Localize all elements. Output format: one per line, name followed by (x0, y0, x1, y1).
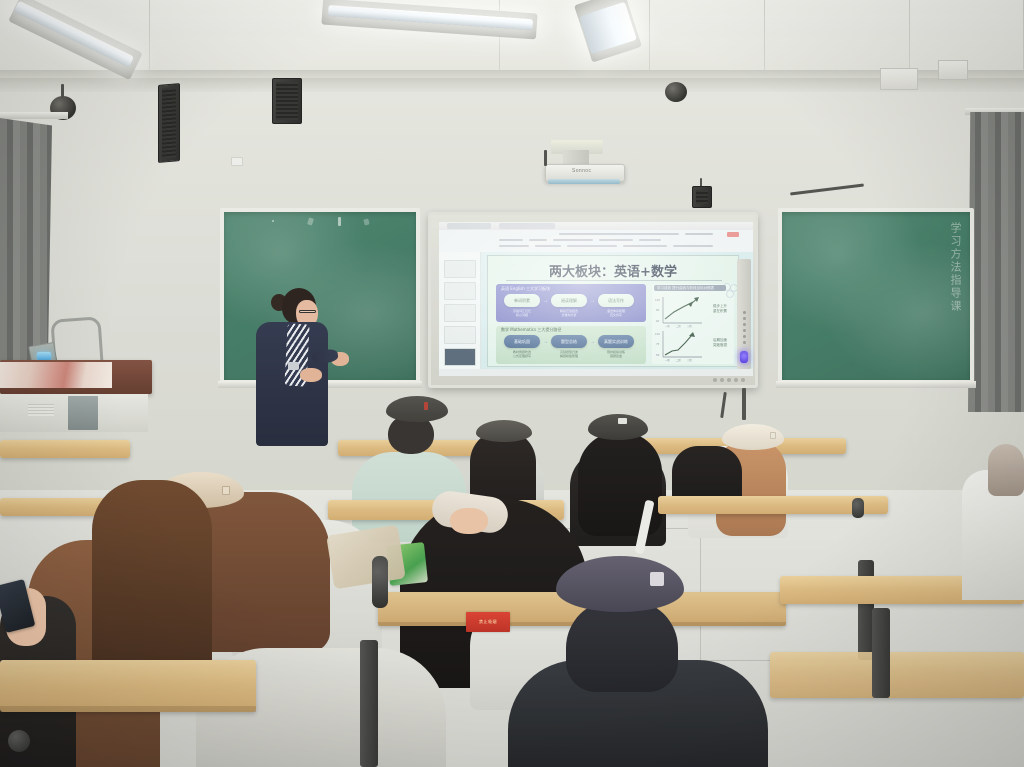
backpack-on-desk[interactable] (326, 525, 406, 590)
charts-panel-header: 学习成效 提分曲线与阶段目标对照表 (654, 285, 726, 291)
english-connector-2: → (590, 299, 595, 304)
smartboard-power-cable (742, 388, 746, 420)
camera-mount (61, 84, 64, 98)
bench-end-cap (852, 498, 864, 518)
right-green-chalkboard: 学习方法指导课 (778, 208, 974, 384)
math-connector-1: → (543, 340, 548, 345)
math-connector-2: → (590, 340, 595, 345)
monitor-power-indicator (37, 352, 51, 360)
math-node-3: 真题实战训练 (598, 335, 634, 348)
wall-switch-plate[interactable] (231, 157, 243, 166)
slide-thumbnail[interactable] (444, 348, 476, 366)
cap-buckle (650, 572, 664, 586)
bench-leg-right (872, 608, 890, 698)
bezel-button-source[interactable] (743, 317, 746, 320)
ceiling-panel (650, 0, 765, 78)
slide-title: 两大板块：英语+数学 (488, 261, 738, 280)
wall-speaker-right (272, 78, 302, 124)
teacher-wristwatch (288, 362, 299, 370)
student-long-hair (92, 480, 212, 680)
cap-buckle (770, 432, 776, 439)
svg-text:二阶: 二阶 (676, 358, 681, 362)
ppt-status-bar (439, 369, 753, 376)
lectern-cabinet-door[interactable] (68, 396, 98, 430)
english-node-3: 语法写作 (598, 294, 634, 307)
math-caption-1: 教材例题吃透 公式定理默写 (502, 350, 542, 358)
projected-screen[interactable]: 两大板块：英语+数学 英语 English 三大学习板块 单词积累 → 阅读理解… (439, 222, 753, 376)
math-node-1: 基础巩固 (504, 335, 540, 348)
ppt-tab[interactable] (447, 223, 491, 229)
bezel-button-volume-down[interactable] (743, 323, 746, 326)
slide-canvas[interactable]: 两大板块：英语+数学 英语 English 三大学习板块 单词积累 → 阅读理解… (487, 255, 739, 367)
svg-text:100: 100 (655, 332, 660, 336)
svg-text:60: 60 (656, 319, 660, 323)
student-hair (988, 444, 1024, 496)
bench-leg-front (360, 640, 378, 767)
svg-text:50: 50 (656, 353, 660, 357)
svg-text:一阶: 一阶 (665, 358, 670, 362)
slide-thumbnail[interactable] (444, 304, 476, 322)
math-section-label: 数学 Mathematics 三大提分路径 (501, 327, 561, 333)
wall-speaker-left (158, 83, 180, 163)
student-head (566, 600, 678, 692)
svg-text:75: 75 (656, 342, 660, 346)
english-chart-annotation: 稳步上升 重在积累 (706, 304, 734, 314)
bezel-button-power[interactable] (743, 311, 746, 314)
lectern-front-panel (0, 362, 112, 388)
bottom-button-1[interactable] (713, 378, 717, 382)
smartboard-bottom-buttons[interactable] (713, 378, 745, 382)
slide-thumbnail[interactable] (444, 326, 476, 344)
svg-text:100: 100 (655, 298, 660, 302)
projector-lens (548, 179, 620, 184)
english-section-label: 英语 English 三大学习板块 (501, 286, 550, 292)
bottom-button-5[interactable] (741, 378, 745, 382)
bench-row-a[interactable] (0, 440, 130, 458)
math-node-2: 题型总结 (551, 335, 587, 348)
wall-mounted-box (880, 68, 918, 90)
math-chart-annotation: 后期加速 突破瓶颈 (706, 338, 734, 348)
window-curtain-left[interactable] (0, 118, 52, 368)
ppt-slide-thumbnail-pane[interactable] (439, 252, 481, 369)
svg-text:80: 80 (656, 308, 660, 312)
cap-buckle (222, 486, 230, 495)
teacher-resting-hand (300, 368, 322, 382)
bezel-button-home[interactable] (743, 341, 746, 344)
english-connector-1: → (543, 299, 548, 304)
charts-panel-header-text: 学习成效 提分曲线与阶段目标对照表 (657, 285, 714, 291)
math-caption-3: 限时模拟训练 错题复盘 (596, 350, 636, 358)
cap-logo (618, 418, 627, 424)
bottom-button-2[interactable] (720, 378, 724, 382)
english-caption-1: 高频词汇记忆 核心词根 (502, 309, 542, 317)
bench-bolt (8, 730, 30, 752)
bezel-button-menu[interactable] (743, 335, 746, 338)
cap-logo (424, 402, 428, 410)
math-caption-2: 高频题型归类 解题模板整理 (549, 350, 589, 358)
student-cap (476, 420, 532, 442)
projector-cable (544, 150, 547, 166)
curtain-rail-left (0, 112, 68, 119)
power-status-led (740, 351, 748, 363)
teacher-glasses (299, 310, 316, 313)
chalk-tray-right (776, 381, 976, 388)
wall-soffit (0, 78, 1024, 92)
desk-warning-sticker: 禁止吸烟 (466, 612, 510, 632)
bench-end-cap (372, 556, 388, 608)
sticker-text: 禁止吸烟 (479, 619, 497, 625)
wall-speaker-small (692, 186, 712, 208)
ppt-record-button[interactable] (727, 232, 739, 237)
english-caption-3: 语法体系梳理 范文仿写 (596, 309, 636, 317)
ceiling-dome-camera-right (665, 82, 687, 102)
lectern-vent (28, 404, 54, 416)
student-cap (386, 396, 448, 422)
title-divider (506, 280, 722, 281)
svg-text:三阶: 三阶 (687, 358, 692, 362)
wall-mounted-box (938, 60, 968, 80)
bench-row-d-right[interactable] (770, 652, 1024, 698)
ppt-tab[interactable] (499, 223, 555, 229)
english-node-1: 单词积累 (504, 294, 540, 307)
interactive-smart-whiteboard[interactable]: 两大板块：英语+数学 英语 English 三大学习板块 单词积累 → 阅读理解… (428, 212, 758, 388)
english-caption-2: 精读泛读结合 长难句分析 (549, 309, 589, 317)
student-hand (450, 508, 488, 534)
english-node-2: 阅读理解 (551, 294, 587, 307)
slide-thumbnail[interactable] (444, 260, 476, 278)
bezel-button-volume-up[interactable] (743, 329, 746, 332)
slide-thumbnail[interactable] (444, 282, 476, 300)
smartboard-side-button-panel[interactable] (737, 259, 751, 369)
bottom-button-3[interactable] (727, 378, 731, 382)
window-curtain-right[interactable] (968, 112, 1024, 412)
ceiling-panel (765, 0, 910, 78)
bench-row-d[interactable] (0, 660, 256, 712)
bottom-button-4[interactable] (734, 378, 738, 382)
classroom-photo: 学习方法指导课 Sonnoc (0, 0, 1024, 767)
